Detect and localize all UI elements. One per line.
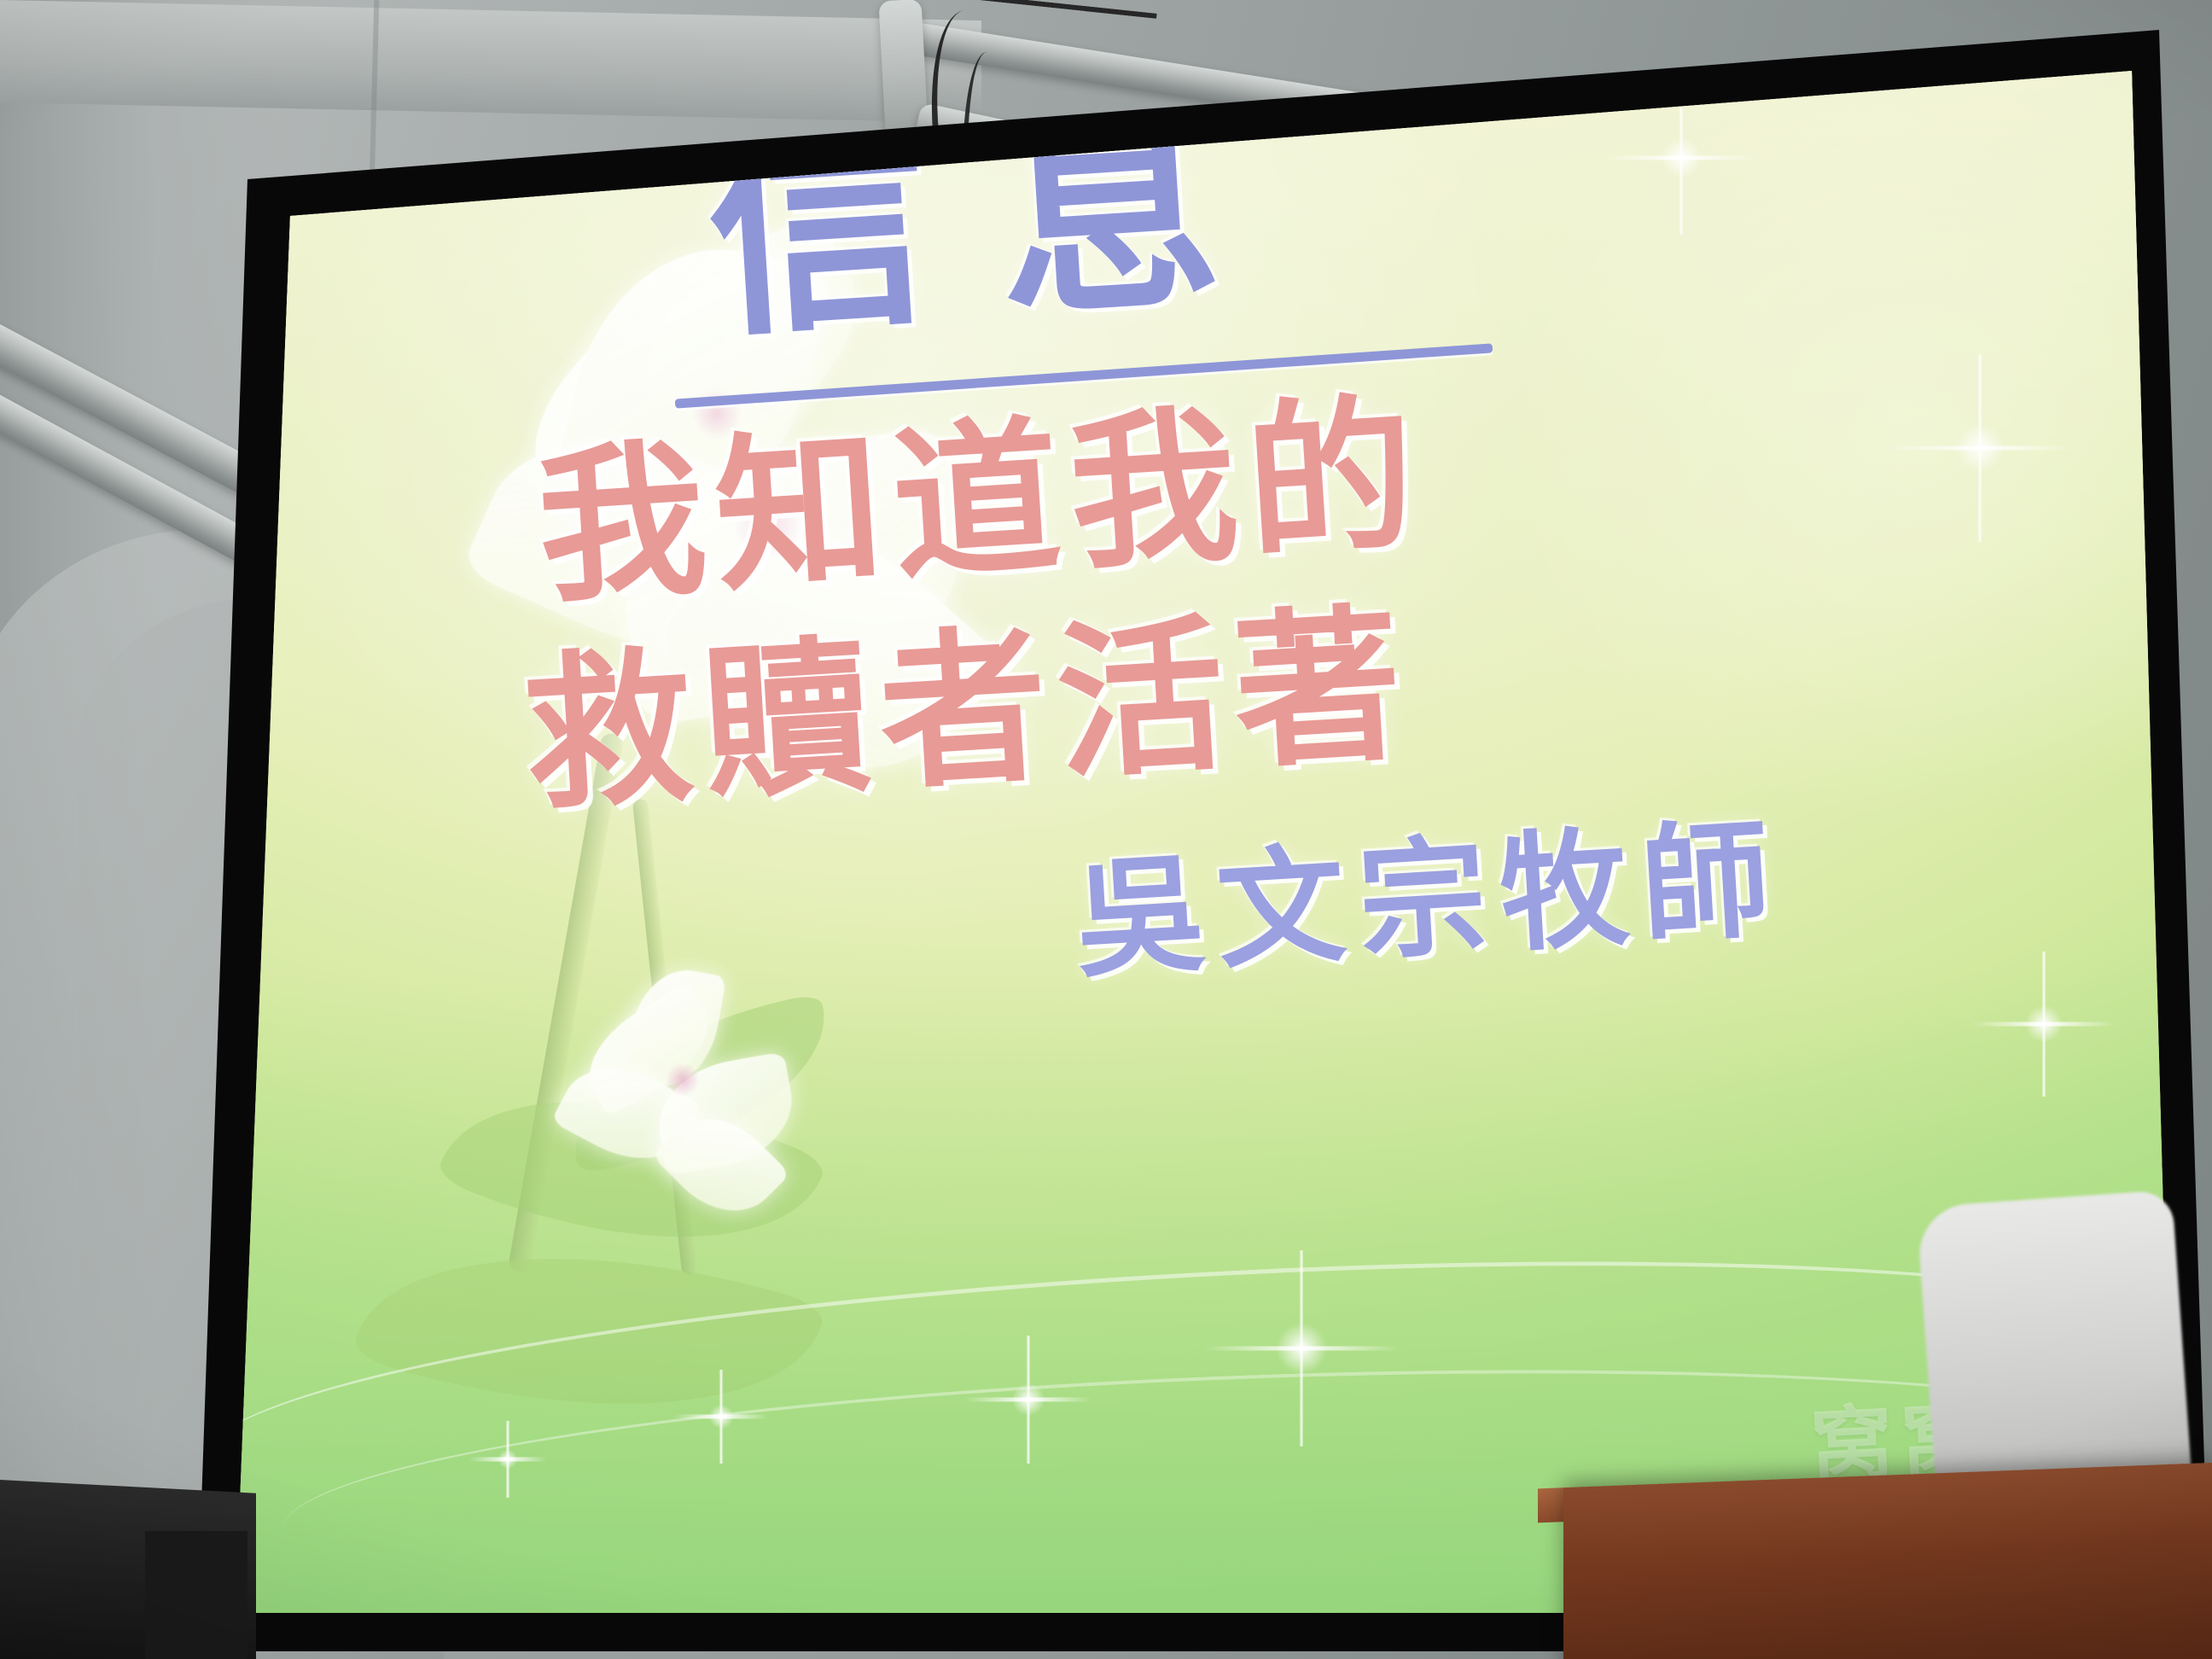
- slide-body-line-2: 救贖者活著: [521, 601, 1417, 820]
- screen-surface: 信息 我知道我的 救贖者活著 吳文宗牧師 窝窝团 55tuan.com: [196, 30, 2210, 1651]
- wooden-lectern: [1563, 1463, 2212, 1659]
- slide-body-line-1: 我知道我的: [533, 391, 1429, 614]
- projection-screen: 信息 我知道我的 救贖者活著 吳文宗牧師 窝窝团 55tuan.com: [196, 30, 2210, 1651]
- person-silhouette: [1917, 1190, 2192, 1497]
- dark-foreground-post-secondary: [145, 1531, 247, 1659]
- photo-scene: 信息 我知道我的 救贖者活著 吳文宗牧師 窝窝团 55tuan.com: [0, 0, 2212, 1659]
- slide-speaker-name: 吳文宗牧師: [1072, 816, 1786, 986]
